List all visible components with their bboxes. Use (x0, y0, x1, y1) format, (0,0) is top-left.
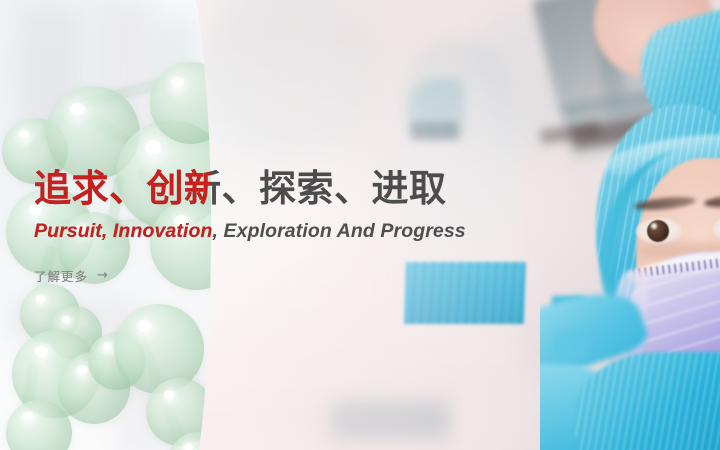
learn-more-label-accent: 了解更多 (34, 266, 88, 285)
hero-banner: 追求、创新、探索、进取 Pursuit, Innovation, Explora… (0, 0, 720, 450)
learn-more-link-accent[interactable]: 了解更多 → (34, 266, 109, 285)
arrow-right-icon-accent: → (97, 269, 109, 282)
